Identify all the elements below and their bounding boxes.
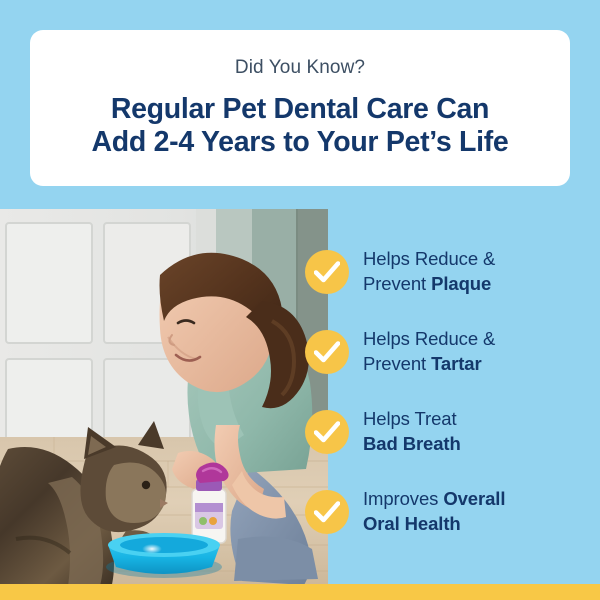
benefit-line1: Helps Reduce &	[363, 328, 495, 349]
benefit-line2-emphasis: Tartar	[431, 353, 481, 374]
benefit-line2-emphasis: Oral Health	[363, 513, 461, 534]
lifestyle-photo	[0, 209, 328, 584]
headline-card: Did You Know? Regular Pet Dental Care Ca…	[30, 30, 570, 186]
benefit-line2-prefix: Prevent	[363, 273, 431, 294]
benefit-item-plaque[interactable]: Helps Reduce & Prevent Plaque	[305, 250, 595, 294]
benefit-line2-emphasis: Bad Breath	[363, 433, 461, 454]
photo-illustration	[0, 209, 328, 584]
benefit-label: Helps Reduce & Prevent Tartar	[363, 326, 595, 376]
benefit-line1-prefix: Improves	[363, 488, 443, 509]
benefit-item-bad-breath[interactable]: Helps Treat Bad Breath	[305, 410, 595, 454]
check-icon	[305, 410, 349, 454]
benefit-item-oral-health[interactable]: Improves Overall Oral Health	[305, 490, 595, 534]
eyebrow-text: Did You Know?	[235, 57, 365, 80]
benefit-label: Helps Reduce & Prevent Plaque	[363, 246, 595, 296]
check-icon	[305, 490, 349, 534]
check-icon	[305, 330, 349, 374]
bottom-accent-band	[0, 584, 600, 600]
check-icon	[305, 250, 349, 294]
infographic-canvas: Did You Know? Regular Pet Dental Care Ca…	[0, 0, 600, 600]
benefit-line1: Helps Treat	[363, 408, 457, 429]
benefit-label: Improves Overall Oral Health	[363, 486, 595, 536]
benefit-line1: Helps Reduce &	[363, 248, 495, 269]
benefit-line1-emphasis: Overall	[443, 488, 505, 509]
benefit-item-tartar[interactable]: Helps Reduce & Prevent Tartar	[305, 330, 595, 374]
benefit-line2-prefix: Prevent	[363, 353, 431, 374]
page-title: Regular Pet Dental Care Can Add 2-4 Year…	[92, 93, 509, 160]
benefit-label: Helps Treat Bad Breath	[363, 406, 595, 456]
benefit-line2-emphasis: Plaque	[431, 273, 491, 294]
